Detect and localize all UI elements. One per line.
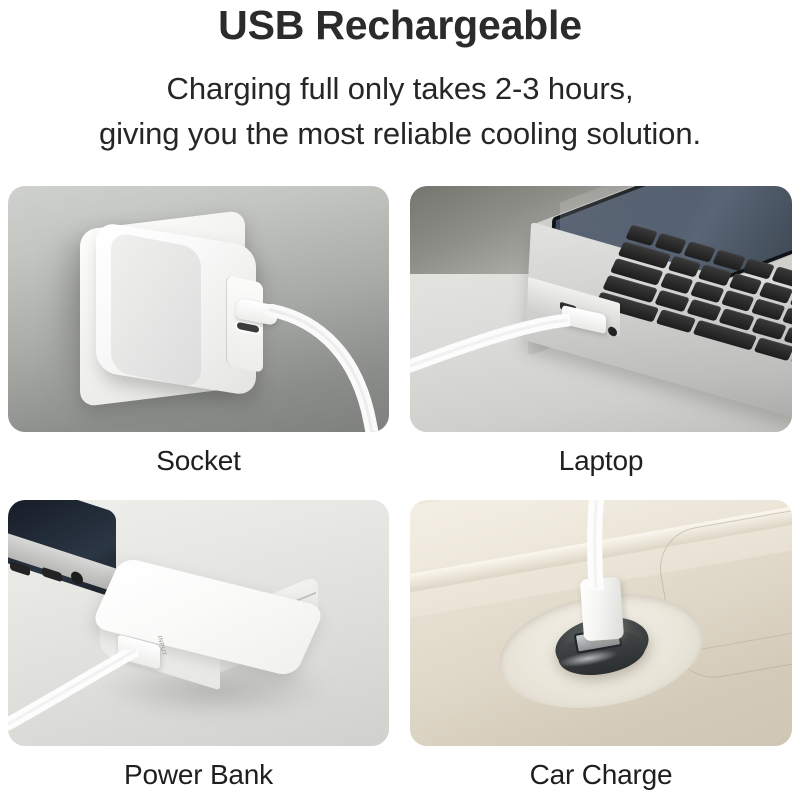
- image-panel-laptop: [410, 186, 792, 432]
- caption-laptop: Laptop: [410, 445, 792, 477]
- page-subtitle: Charging full only takes 2-3 hours, givi…: [0, 66, 800, 156]
- header: USB Rechargeable Charging full only take…: [0, 0, 800, 170]
- image-panel-car-charge: [410, 500, 792, 746]
- car-charging-cable: [550, 500, 670, 590]
- caption-socket: Socket: [8, 445, 389, 477]
- power-bank-charging-cable: [8, 650, 138, 746]
- laptop-charging-cable: [410, 314, 570, 384]
- charging-cable: [266, 304, 389, 432]
- caption-power-bank: Power Bank: [8, 759, 389, 791]
- subtitle-line-2: giving you the most reliable cooling sol…: [0, 111, 800, 156]
- wall-charger-face: [111, 231, 201, 388]
- subtitle-line-1: Charging full only takes 2-3 hours,: [0, 66, 800, 111]
- image-panel-socket: [8, 186, 389, 432]
- page-title: USB Rechargeable: [0, 2, 800, 48]
- caption-car-charge: Car Charge: [410, 759, 792, 791]
- image-panel-power-bank: INPUT: [8, 500, 389, 746]
